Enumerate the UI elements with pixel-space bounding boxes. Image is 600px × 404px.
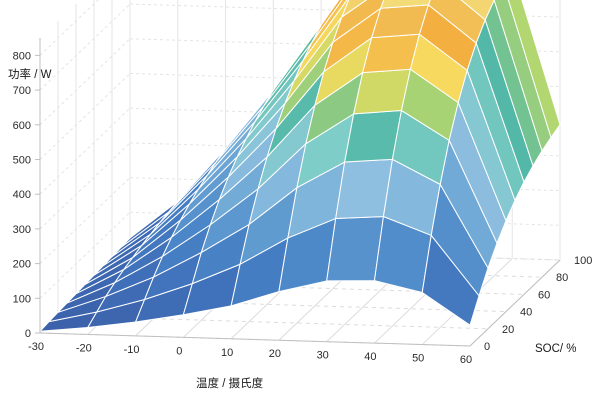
y-tick-label: 20	[502, 324, 514, 336]
z-tick-label: 400	[13, 189, 31, 201]
x-tick-label: 40	[364, 351, 376, 363]
z-tick-label: 800	[13, 50, 31, 62]
x-tick-label: 10	[221, 347, 233, 359]
y-tick-label: 80	[556, 272, 568, 284]
z-tick-label: 200	[13, 259, 31, 271]
y-tick-label: 60	[538, 289, 550, 301]
z-tick-label: 300	[13, 224, 31, 236]
z-tick-label: 700	[13, 85, 31, 97]
x-axis-title: 温度 / 摄氏度	[196, 376, 264, 390]
y-tick-label: 40	[520, 307, 532, 319]
x-tick-label: 60	[460, 354, 472, 366]
z-tick-label: 0	[25, 328, 31, 340]
x-tick-label: 30	[317, 350, 329, 362]
y-tick-label: 0	[484, 341, 490, 353]
x-tick-label: -20	[76, 342, 92, 354]
y-axis-title: SOC/ %	[535, 343, 577, 355]
x-tick-label: 0	[176, 345, 182, 357]
z-tick-label: 500	[13, 155, 31, 167]
y-tick-label: 100	[574, 255, 592, 267]
z-axis-title: 功率 / W	[8, 67, 52, 81]
x-tick-label: 50	[412, 353, 424, 365]
x-tick-label: 20	[269, 348, 281, 360]
x-tick-label: -10	[124, 344, 140, 356]
z-tick-label: 100	[13, 293, 31, 305]
surface-chart-figure: 0100200300400500600700800 -30-20-1001020…	[0, 0, 600, 404]
surface-chart-canvas: 0100200300400500600700800 -30-20-1001020…	[0, 0, 600, 404]
x-tick-label: -30	[28, 341, 44, 353]
z-tick-label: 600	[13, 120, 31, 132]
